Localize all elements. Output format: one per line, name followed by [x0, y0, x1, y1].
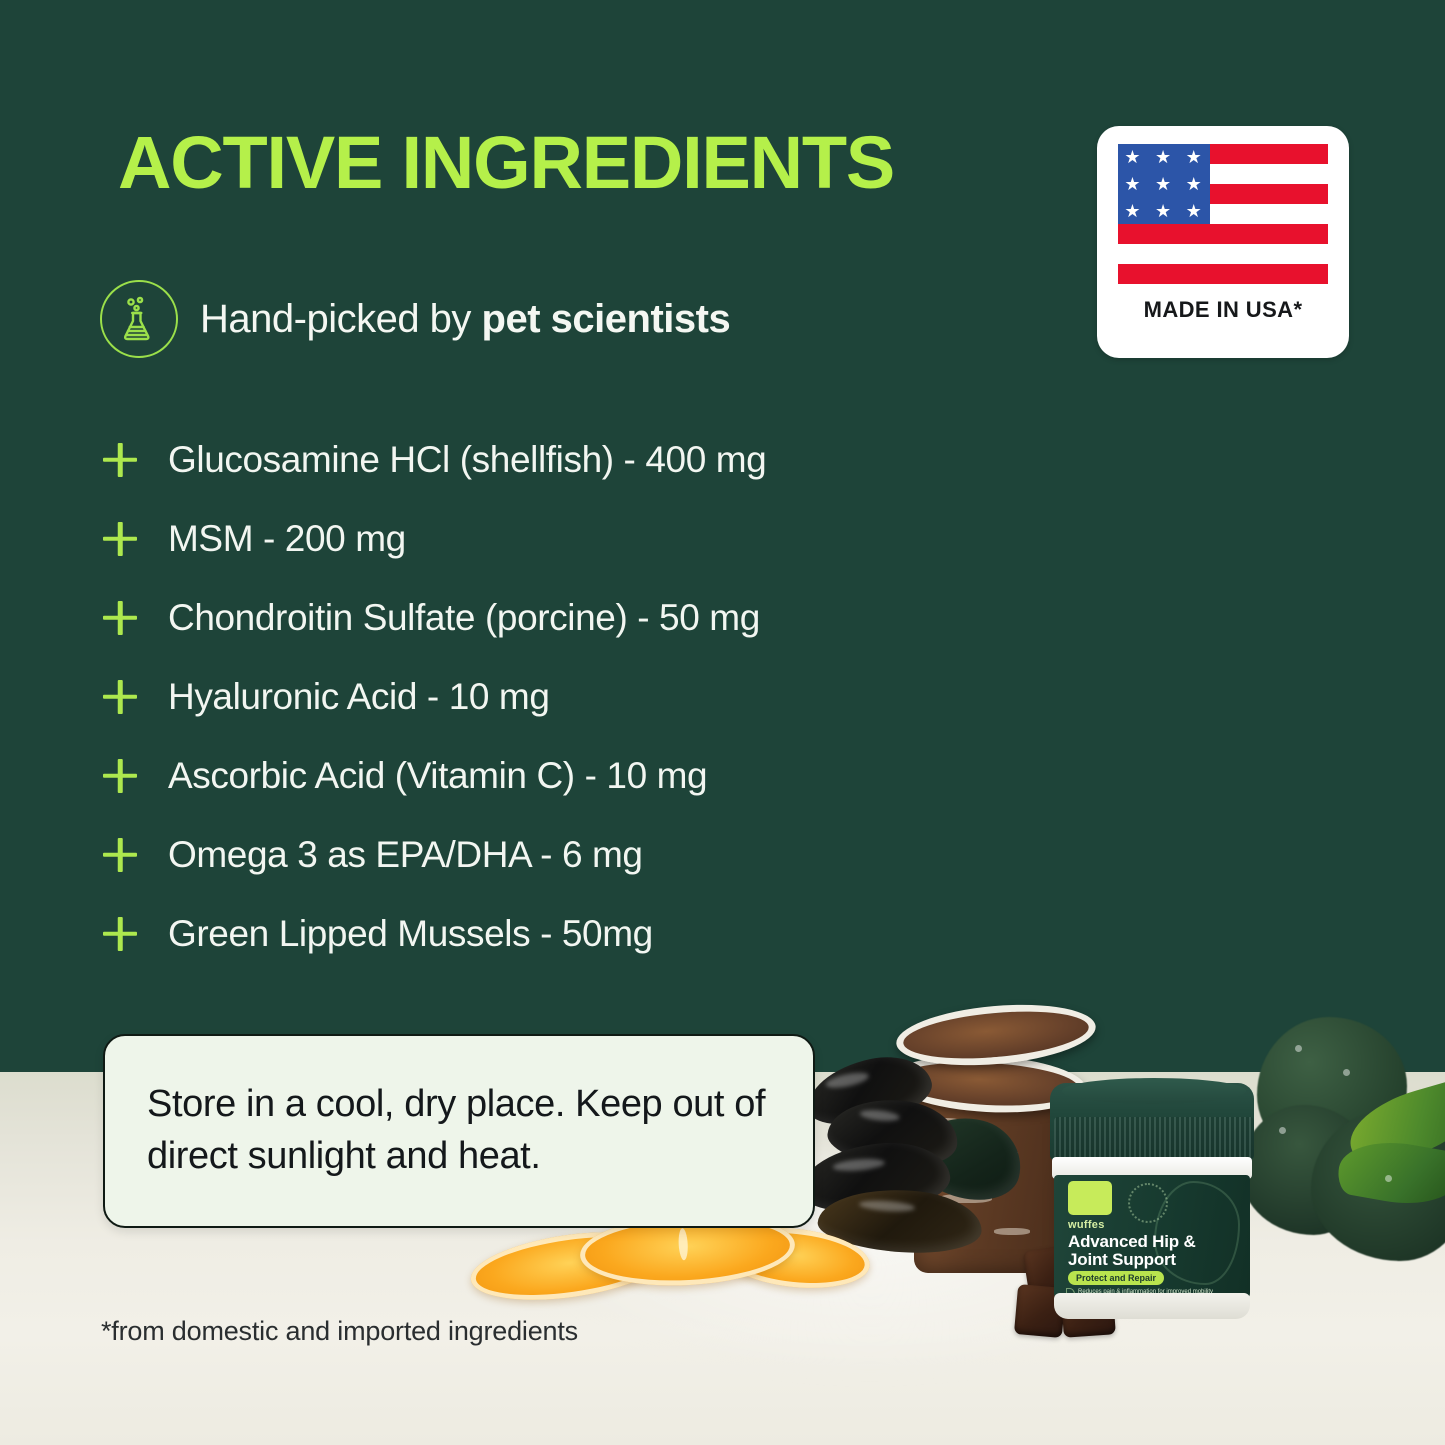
- star-icon: ★: [1124, 148, 1142, 166]
- subheading-row: Hand-picked by pet scientists: [100, 280, 730, 358]
- made-in-usa-badge: ★ ★ ★ ★ ★ ★ ★ ★ ★ MADE IN USA*: [1097, 126, 1349, 358]
- star-icon: ★: [1186, 148, 1204, 166]
- page-title: ACTIVE INGREDIENTS: [118, 126, 894, 200]
- list-item: Omega 3 as EPA/DHA - 6 mg: [100, 815, 1100, 894]
- plus-icon: [100, 914, 140, 954]
- ingredient-label: Ascorbic Acid (Vitamin C) - 10 mg: [168, 755, 707, 797]
- list-item: Ascorbic Acid (Vitamin C) - 10 mg: [100, 736, 1100, 815]
- content-layer: ACTIVE INGREDIENTS Hand-picked by pet sc…: [0, 0, 1445, 1445]
- star-icon: ★: [1124, 202, 1142, 220]
- star-icon: ★: [1155, 175, 1173, 193]
- storage-instructions-card: Store in a cool, dry place. Keep out of …: [103, 1034, 815, 1228]
- ingredient-label: Omega 3 as EPA/DHA - 6 mg: [168, 834, 643, 876]
- ingredient-label: Green Lipped Mussels - 50mg: [168, 913, 653, 955]
- footnote-text: *from domestic and imported ingredients: [101, 1316, 578, 1347]
- us-flag-icon: ★ ★ ★ ★ ★ ★ ★ ★ ★: [1118, 144, 1328, 284]
- made-in-usa-label: MADE IN USA*: [1144, 297, 1303, 323]
- ingredient-label: MSM - 200 mg: [168, 518, 406, 560]
- star-icon: ★: [1186, 175, 1204, 193]
- star-icon: ★: [1186, 202, 1204, 220]
- storage-instructions-text: Store in a cool, dry place. Keep out of …: [147, 1079, 771, 1182]
- list-item: Chondroitin Sulfate (porcine) - 50 mg: [100, 578, 1100, 657]
- plus-icon: [100, 598, 140, 638]
- plus-icon: [100, 440, 140, 480]
- ingredients-list: Glucosamine HCl (shellfish) - 400 mg MSM…: [100, 420, 1100, 973]
- ingredient-label: Glucosamine HCl (shellfish) - 400 mg: [168, 439, 766, 481]
- flag-canton: ★ ★ ★ ★ ★ ★ ★ ★ ★: [1118, 144, 1210, 224]
- plus-icon: [100, 519, 140, 559]
- list-item: MSM - 200 mg: [100, 499, 1100, 578]
- infographic-canvas: wuffes Advanced Hip & Joint Support Prot…: [0, 0, 1445, 1445]
- list-item: Glucosamine HCl (shellfish) - 400 mg: [100, 420, 1100, 499]
- flask-icon: [100, 280, 178, 358]
- star-icon: ★: [1155, 202, 1173, 220]
- subheading-text: Hand-picked by pet scientists: [200, 297, 730, 342]
- plus-icon: [100, 835, 140, 875]
- plus-icon: [100, 756, 140, 796]
- list-item: Green Lipped Mussels - 50mg: [100, 894, 1100, 973]
- plus-icon: [100, 677, 140, 717]
- subheading-prefix: Hand-picked by: [200, 297, 482, 341]
- subheading-emphasis: pet scientists: [482, 297, 731, 341]
- ingredient-label: Chondroitin Sulfate (porcine) - 50 mg: [168, 597, 760, 639]
- star-icon: ★: [1124, 175, 1142, 193]
- ingredient-label: Hyaluronic Acid - 10 mg: [168, 676, 550, 718]
- list-item: Hyaluronic Acid - 10 mg: [100, 657, 1100, 736]
- star-icon: ★: [1155, 148, 1173, 166]
